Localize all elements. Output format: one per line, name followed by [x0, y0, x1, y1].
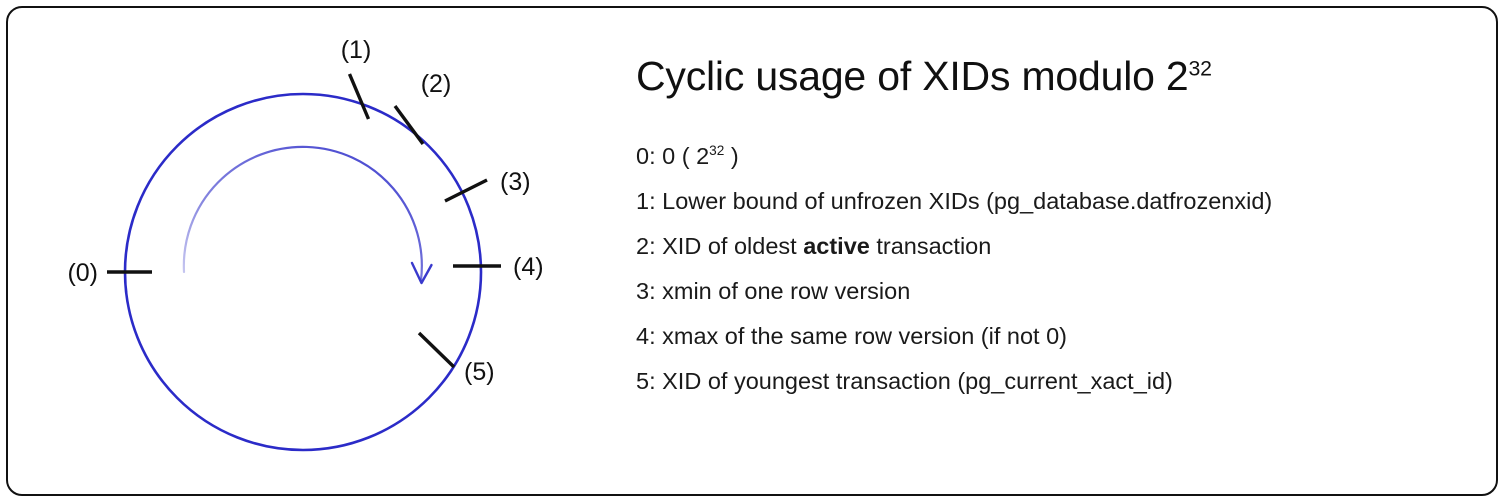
legend-item-2-suffix: transaction [870, 233, 991, 259]
cyclic-xid-diagram: (0) (1) (2) (3) (4) (5) [40, 20, 610, 482]
tick-label-0: (0) [67, 259, 98, 287]
tick-mark-5 [419, 333, 454, 367]
clockwise-direction-arc [184, 147, 422, 280]
tick-mark-1 [350, 74, 369, 119]
page-title-text: Cyclic usage of XIDs modulo 2 [636, 53, 1189, 99]
tick-label-3: (3) [500, 168, 531, 196]
legend-item-4: 4: xmax of the same row version (if not … [636, 325, 1466, 349]
legend-item-5: 5: XID of youngest transaction (pg_curre… [636, 370, 1466, 394]
tick-label-1: (1) [341, 36, 372, 64]
legend-item-0-prefix: 0: 0 ( 2 [636, 143, 709, 169]
legend-item-0: 0: 0 ( 232 ) [636, 145, 1466, 169]
legend-item-3: 3: xmin of one row version [636, 280, 1466, 304]
legend-item-0-suffix: ) [724, 143, 738, 169]
legend-item-0-superscript: 32 [709, 143, 724, 158]
legend-list: 0: 0 ( 232 ) 1: Lower bound of unfrozen … [636, 145, 1466, 394]
legend-item-2-emphasis: active [803, 233, 870, 259]
slide-root: (0) (1) (2) (3) (4) (5) Cyclic usage of … [0, 0, 1504, 502]
page-title: Cyclic usage of XIDs modulo 232 [636, 54, 1466, 99]
text-column: Cyclic usage of XIDs modulo 232 0: 0 ( 2… [636, 54, 1466, 415]
legend-item-2-prefix: 2: XID of oldest [636, 233, 803, 259]
legend-item-2: 2: XID of oldest active transaction [636, 235, 1466, 259]
legend-item-1: 1: Lower bound of unfrozen XIDs (pg_data… [636, 190, 1466, 214]
tick-label-5: (5) [464, 358, 495, 386]
page-title-superscript: 32 [1189, 56, 1212, 80]
tick-label-2: (2) [421, 70, 452, 98]
tick-mark-2 [395, 106, 423, 144]
tick-label-4: (4) [513, 253, 544, 281]
